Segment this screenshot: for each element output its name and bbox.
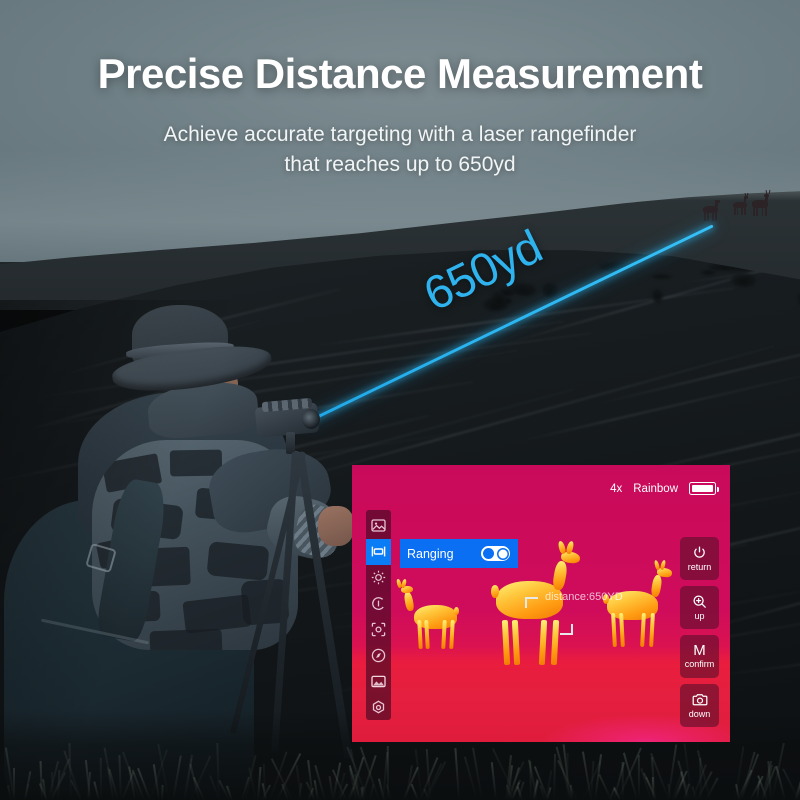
ranging-label: Ranging [407, 547, 454, 561]
sidebar-item-image[interactable] [366, 513, 391, 539]
thermal-sidebar[interactable] [366, 510, 391, 720]
up-button[interactable]: up [680, 586, 719, 629]
thermal-hotspot-glow [352, 672, 730, 742]
reticle-corner-tl [525, 597, 538, 608]
distance-readout: distance:650YD [545, 591, 623, 603]
sidebar-item-ranging[interactable] [366, 539, 391, 565]
thermal-button-column[interactable]: return up M confirm down [680, 537, 719, 727]
sidebar-item-settings[interactable] [366, 694, 391, 720]
return-button[interactable]: return [680, 537, 719, 580]
down-label: down [689, 709, 711, 719]
m-key-icon: M [693, 644, 706, 657]
return-label: return [688, 562, 712, 572]
ranging-toggle-switch[interactable] [481, 546, 510, 561]
tripod-head [286, 432, 295, 454]
battery-full-icon [689, 482, 716, 495]
sidebar-item-gallery[interactable] [366, 668, 391, 694]
page-title: Precise Distance Measurement [0, 50, 800, 98]
sidebar-item-contrast[interactable] [366, 591, 391, 617]
palette-label: Rainbow [633, 483, 678, 495]
confirm-label: confirm [685, 659, 715, 669]
zoom-level-label: 4x [610, 483, 622, 495]
promo-stage: 650yd Precise Distance Measurement Achie… [0, 0, 800, 800]
sidebar-item-focus[interactable] [366, 617, 391, 643]
page-subtitle: Achieve accurate targeting with a laser … [150, 120, 650, 180]
sidebar-item-compass[interactable] [366, 642, 391, 668]
down-button[interactable]: down [680, 684, 719, 727]
sidebar-item-brightness[interactable] [366, 565, 391, 591]
up-label: up [694, 611, 704, 621]
reticle-corner-br [560, 624, 573, 635]
ranging-toggle-row[interactable]: Ranging [400, 539, 518, 568]
thermal-display-panel: 4x Rainbow [352, 465, 730, 742]
confirm-button[interactable]: M confirm [680, 635, 719, 678]
thermal-status-bar: 4x Rainbow [610, 482, 716, 495]
